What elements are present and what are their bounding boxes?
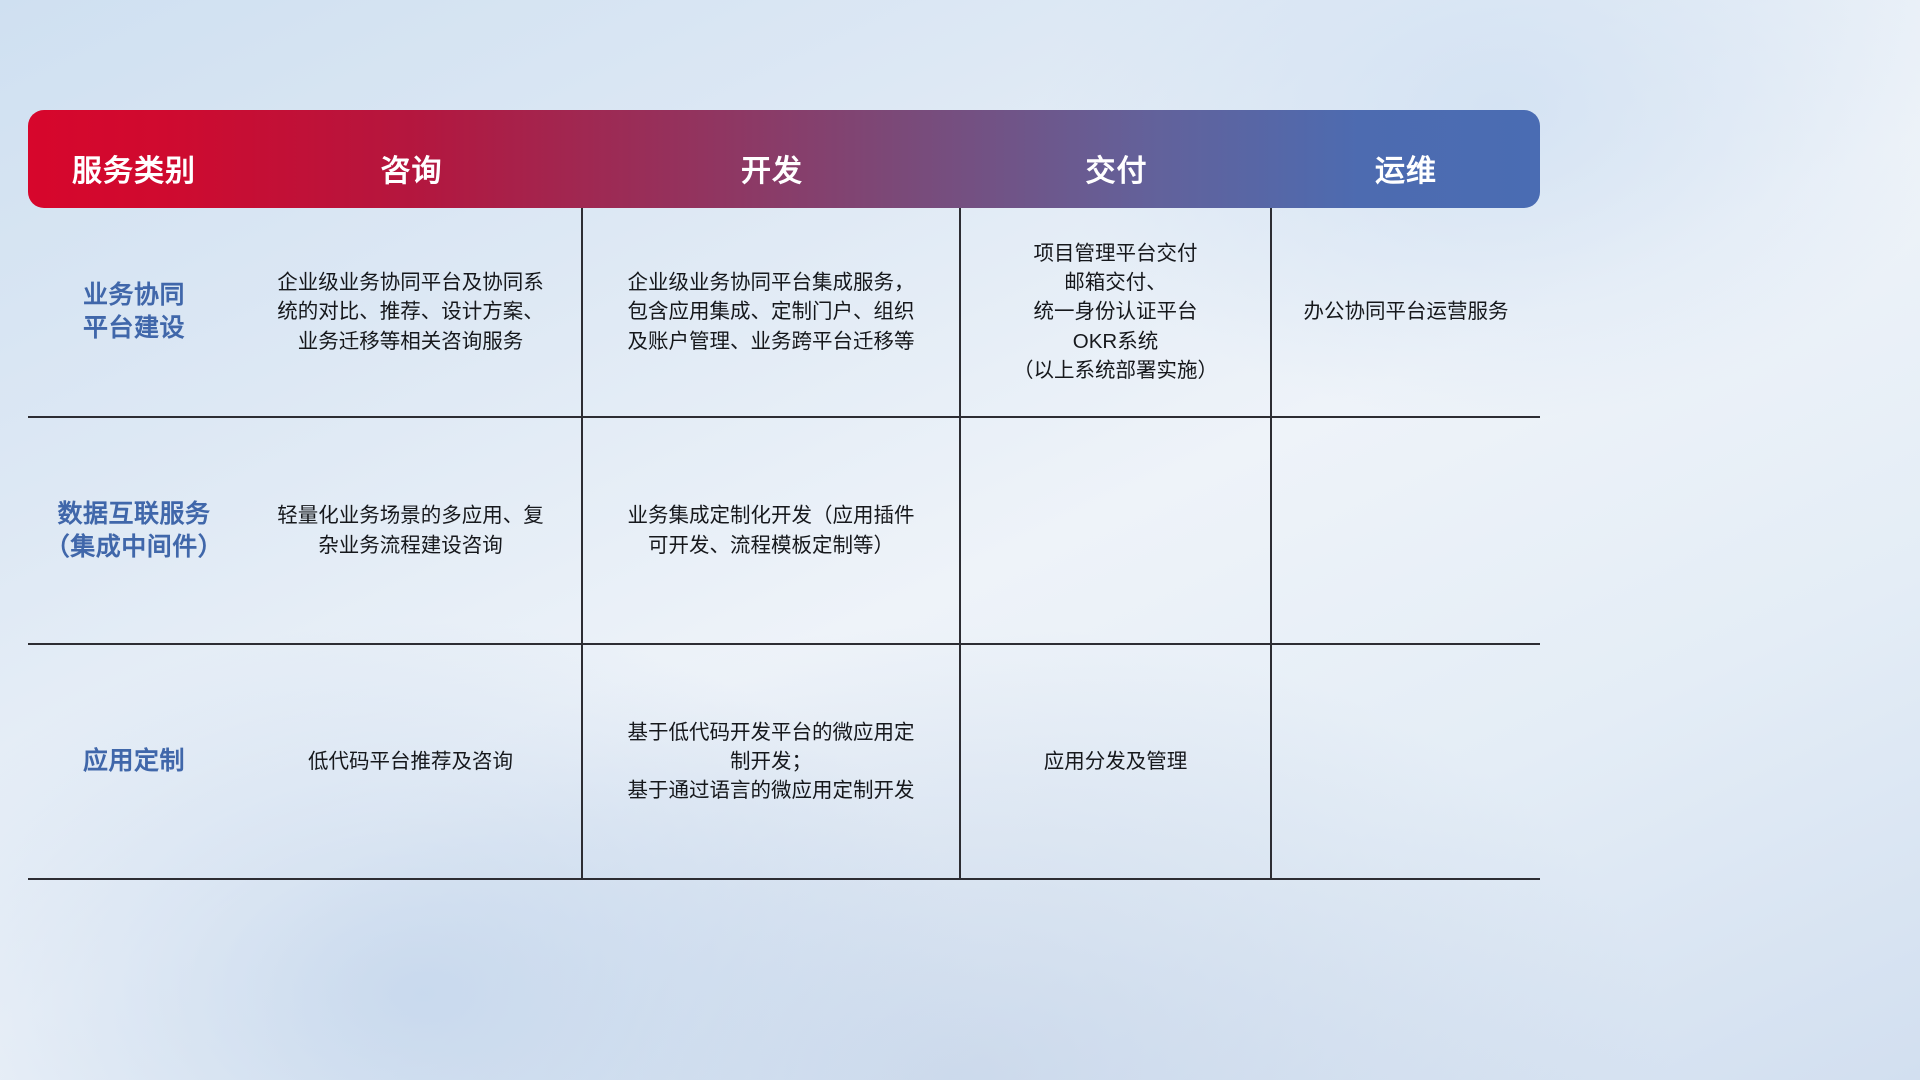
cell-row2-development: 基于低代码开发平台的微应用定 制开发； 基于通过语言的微应用定制开发: [583, 645, 961, 878]
table-header-row: 服务类别 咨询 开发 交付 运维: [28, 110, 1540, 208]
table-header-cell-consulting: 咨询: [240, 155, 583, 196]
row-label-data-integration: 数据互联服务 （集成中间件）: [28, 418, 240, 643]
cell-row0-delivery: 项目管理平台交付 邮箱交付、 统一身份认证平台 OKR系统 （以上系统部署实施）: [961, 208, 1272, 416]
table-header-cell-operations: 运维: [1272, 155, 1540, 196]
cell-row1-delivery: [961, 418, 1272, 643]
table-body: 业务协同 平台建设 企业级业务协同平台及协同系 统的对比、推荐、设计方案、 业务…: [28, 208, 1540, 880]
cell-row2-delivery: 应用分发及管理: [961, 645, 1272, 878]
cell-row1-consulting: 轻量化业务场景的多应用、复 杂业务流程建设咨询: [240, 418, 583, 643]
table-row: 业务协同 平台建设 企业级业务协同平台及协同系 统的对比、推荐、设计方案、 业务…: [28, 208, 1540, 418]
cell-row2-consulting: 低代码平台推荐及咨询: [240, 645, 583, 878]
table-header-cell-service-category: 服务类别: [28, 155, 240, 196]
table-row: 数据互联服务 （集成中间件） 轻量化业务场景的多应用、复 杂业务流程建设咨询 业…: [28, 418, 1540, 645]
cell-row0-development: 企业级业务协同平台集成服务， 包含应用集成、定制门户、组织 及账户管理、业务跨平…: [583, 208, 961, 416]
table-header-cell-delivery: 交付: [961, 155, 1272, 196]
cell-row2-operations: [1272, 645, 1540, 878]
row-label-application-customization: 应用定制: [28, 645, 240, 878]
cell-row1-development: 业务集成定制化开发（应用插件 可开发、流程模板定制等）: [583, 418, 961, 643]
cell-row0-consulting: 企业级业务协同平台及协同系 统的对比、推荐、设计方案、 业务迁移等相关咨询服务: [240, 208, 583, 416]
slide-canvas: 服务类别 咨询 开发 交付 运维 业务协同 平台建设 企业级业务协同平台及协同系…: [0, 0, 1920, 1080]
cell-row1-operations: [1272, 418, 1540, 643]
row-label-business-collaboration: 业务协同 平台建设: [28, 208, 240, 416]
service-matrix-table: 服务类别 咨询 开发 交付 运维 业务协同 平台建设 企业级业务协同平台及协同系…: [28, 110, 1540, 780]
table-row: 应用定制 低代码平台推荐及咨询 基于低代码开发平台的微应用定 制开发； 基于通过…: [28, 645, 1540, 878]
table-header-cell-development: 开发: [583, 155, 961, 196]
cell-row0-operations: 办公协同平台运营服务: [1272, 208, 1540, 416]
